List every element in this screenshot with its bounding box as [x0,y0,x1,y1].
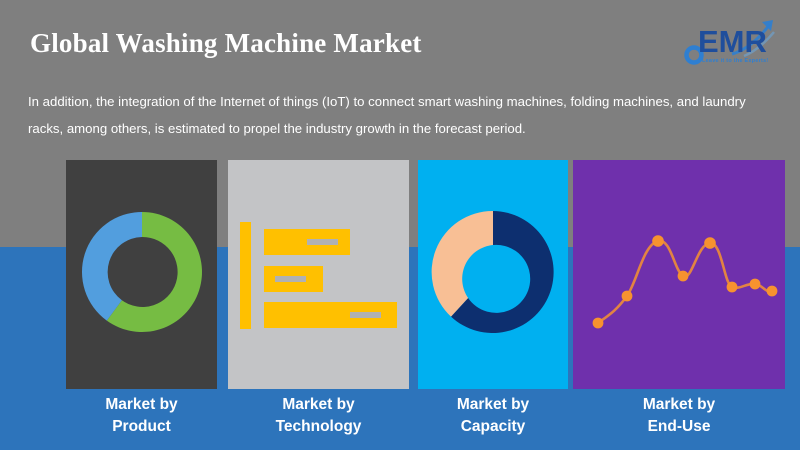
data-point [652,235,664,247]
caption-line-2: Product [66,416,217,438]
emr-tagline: Leave it to the Experts! [702,58,769,64]
bar-3-marker [350,312,381,318]
data-point [622,291,633,302]
panel-market-by-technology[interactable] [228,160,409,389]
bar-chart-technology [240,222,400,332]
donut-slice-peach [432,211,493,317]
caption-market-by-product: Market by Product [66,394,217,438]
caption-line-1: Market by [418,394,568,416]
data-point [767,286,778,297]
caption-line-2: Capacity [418,416,568,438]
page-subtitle: In addition, the integration of the Inte… [28,88,780,142]
infographic-root: Global Washing Machine Market In additio… [0,0,800,450]
data-point [727,282,738,293]
data-point [750,279,761,290]
caption-line-1: Market by [66,394,217,416]
panel-market-by-end-use[interactable] [573,160,785,389]
caption-line-2: End-Use [573,416,785,438]
bar-chart-axis [240,222,251,329]
caption-market-by-capacity: Market by Capacity [418,394,568,438]
panel-market-by-product[interactable] [66,160,217,389]
caption-line-2: Technology [228,416,409,438]
donut-chart-capacity [425,202,561,342]
panel-market-by-capacity[interactable] [418,160,568,389]
caption-market-by-end-use: Market by End-Use [573,394,785,438]
caption-line-1: Market by [573,394,785,416]
data-point [678,271,689,282]
bar-1-marker [307,239,338,245]
data-point [704,237,716,249]
emr-logo-mark: EMR Leave it to the Experts! [684,14,784,66]
emr-wordmark: EMR [698,24,767,59]
line-series-path [598,241,772,323]
page-title: Global Washing Machine Market [30,28,422,59]
donut-slice-blue [82,212,142,321]
line-chart-end-use [585,215,781,340]
data-point [593,318,604,329]
emr-logo: EMR Leave it to the Experts! [684,14,784,66]
line-series-markers [593,235,778,328]
bar-2-marker [275,276,306,282]
donut-chart-product [73,203,211,341]
caption-market-by-technology: Market by Technology [228,394,409,438]
caption-line-1: Market by [228,394,409,416]
